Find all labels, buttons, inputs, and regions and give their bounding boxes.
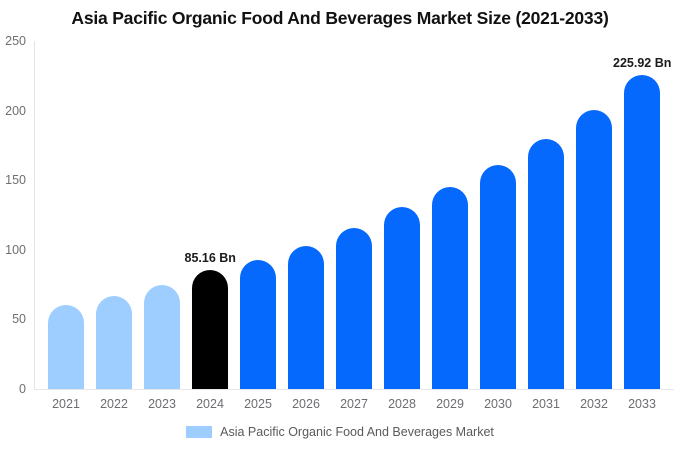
x-axis-tick-label: 2031 bbox=[522, 398, 570, 411]
bar[interactable] bbox=[528, 139, 564, 389]
x-axis-line bbox=[34, 389, 674, 390]
bar-chart: Asia Pacific Organic Food And Beverages … bbox=[0, 0, 680, 450]
y-axis-tick-label: 0 bbox=[19, 383, 26, 396]
plot-area bbox=[34, 41, 674, 389]
bar[interactable] bbox=[480, 165, 516, 389]
x-axis-tick-label: 2028 bbox=[378, 398, 426, 411]
bar[interactable] bbox=[576, 110, 612, 389]
x-axis-tick-label: 2030 bbox=[474, 398, 522, 411]
bar[interactable] bbox=[624, 75, 660, 389]
bar[interactable] bbox=[192, 270, 228, 389]
bar[interactable] bbox=[144, 285, 180, 389]
chart-legend: Asia Pacific Organic Food And Beverages … bbox=[0, 426, 680, 439]
y-axis-tick-label: 200 bbox=[5, 105, 26, 118]
x-axis-tick-label: 2024 bbox=[186, 398, 234, 411]
bar[interactable] bbox=[48, 305, 84, 389]
bar-value-label: 225.92 Bn bbox=[613, 57, 671, 70]
legend-label: Asia Pacific Organic Food And Beverages … bbox=[220, 426, 494, 439]
bar-value-label: 85.16 Bn bbox=[185, 252, 236, 265]
x-axis-tick-label: 2029 bbox=[426, 398, 474, 411]
x-axis-tick-label: 2022 bbox=[90, 398, 138, 411]
legend-swatch-icon bbox=[186, 426, 212, 438]
x-axis-tick-label: 2021 bbox=[42, 398, 90, 411]
y-axis-tick-label: 150 bbox=[5, 174, 26, 187]
chart-title: Asia Pacific Organic Food And Beverages … bbox=[0, 8, 680, 29]
y-axis-tick-label: 250 bbox=[5, 35, 26, 48]
y-axis-tick-label: 50 bbox=[12, 313, 26, 326]
x-axis-tick-label: 2023 bbox=[138, 398, 186, 411]
bar[interactable] bbox=[384, 207, 420, 389]
y-axis-tick-label: 100 bbox=[5, 244, 26, 257]
x-axis-tick-label: 2032 bbox=[570, 398, 618, 411]
x-axis-tick-label: 2027 bbox=[330, 398, 378, 411]
bar[interactable] bbox=[288, 246, 324, 389]
bar[interactable] bbox=[336, 228, 372, 389]
x-axis-tick-label: 2025 bbox=[234, 398, 282, 411]
bar[interactable] bbox=[96, 296, 132, 389]
x-axis-tick-label: 2033 bbox=[618, 398, 666, 411]
bar[interactable] bbox=[240, 260, 276, 389]
bar[interactable] bbox=[432, 187, 468, 389]
x-axis-tick-label: 2026 bbox=[282, 398, 330, 411]
